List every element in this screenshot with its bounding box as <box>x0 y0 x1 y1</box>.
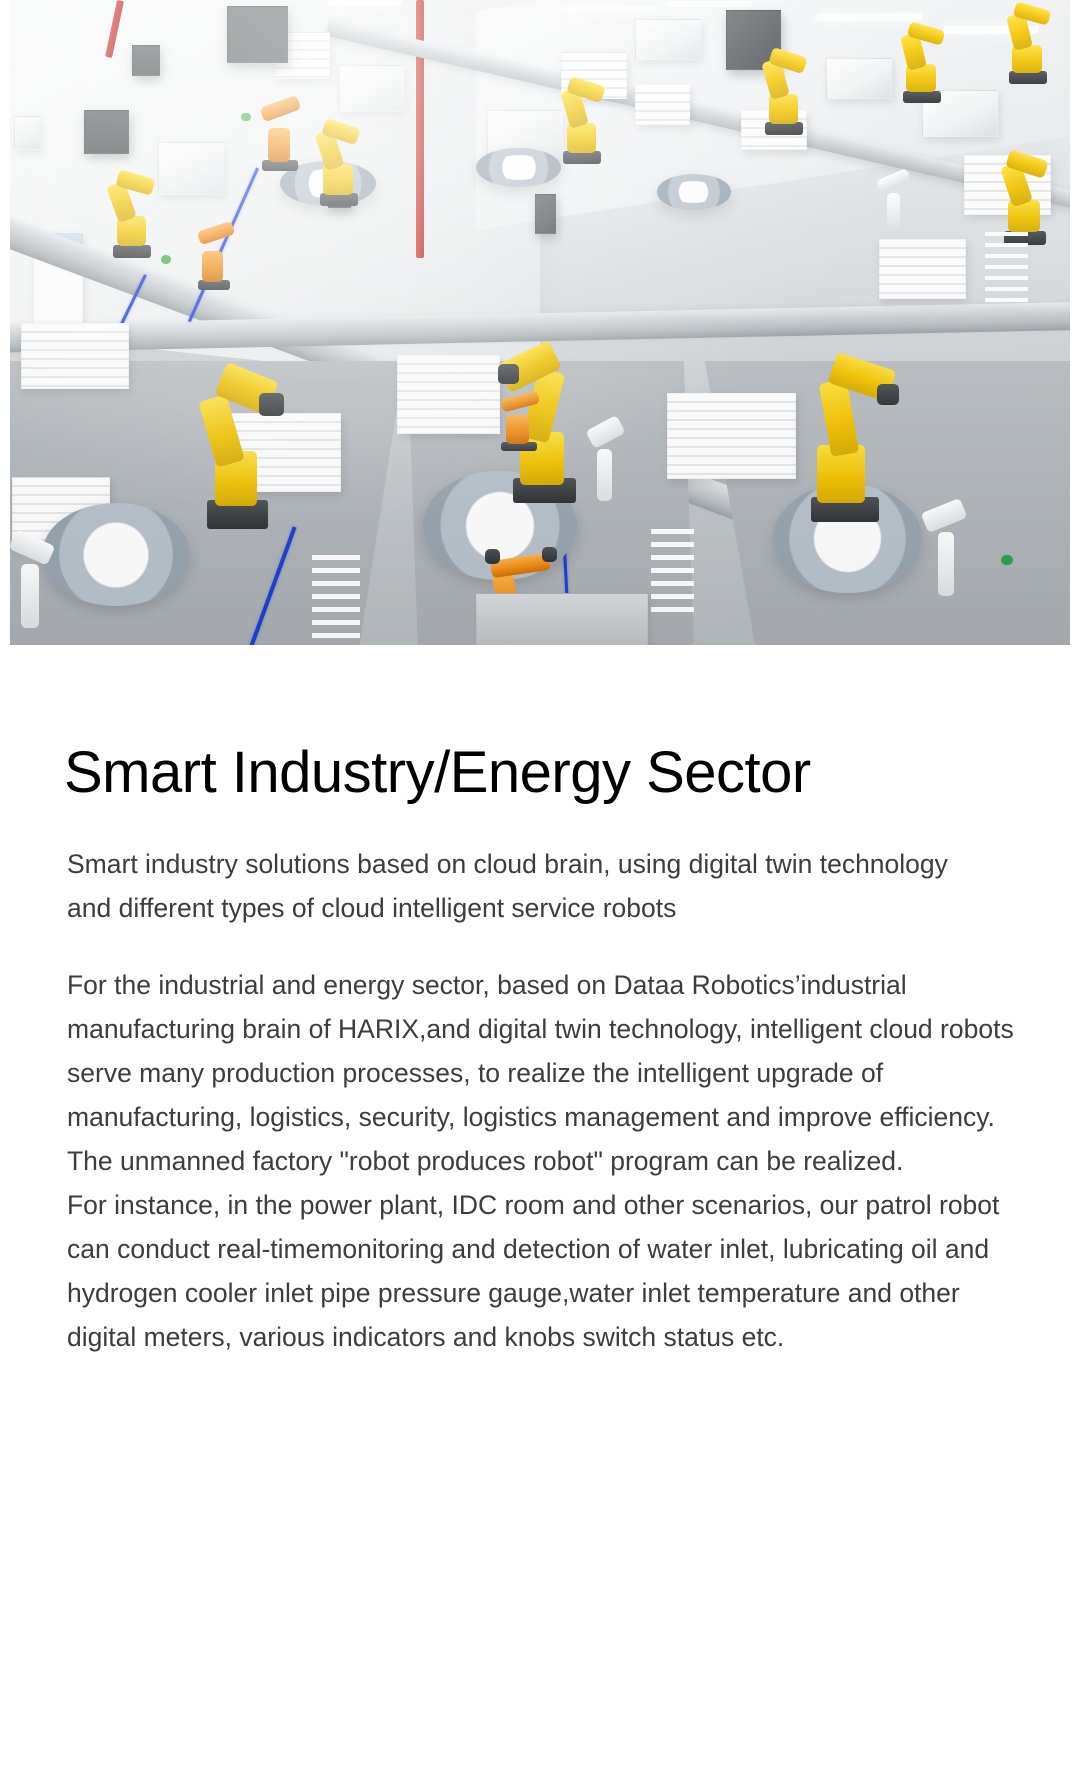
article-lede: Smart industry solutions based on cloud … <box>0 806 1080 930</box>
factory-scene-illustration <box>10 0 1070 645</box>
robot-arm <box>100 174 164 258</box>
robot-arm <box>551 81 615 165</box>
page-title: Smart Industry/Energy Sector <box>0 645 1080 806</box>
article-paragraph: The unmanned factory "robot produces rob… <box>67 1139 1025 1183</box>
gripper-indicator <box>1001 555 1013 565</box>
gripper-indicator <box>161 255 172 264</box>
robot-arm-orange <box>487 387 551 452</box>
ladder-frame <box>651 529 693 619</box>
machine-shelf <box>667 393 796 479</box>
robot-arm <box>996 6 1060 83</box>
dark-cabinet <box>227 6 287 63</box>
page-root: Smart Industry/Energy Sector Smart indus… <box>0 0 1080 1785</box>
turntable <box>657 174 731 209</box>
robot-arm <box>307 123 371 207</box>
cobot-arm-white <box>577 413 635 503</box>
machine-shelf <box>879 239 966 299</box>
hero-image <box>10 0 1070 645</box>
ceiling-light-strip <box>814 13 923 21</box>
ladder-frame <box>312 555 360 639</box>
wall-sign <box>14 116 39 150</box>
robot-arm <box>890 26 954 103</box>
robot-arm <box>190 368 285 529</box>
cobot-arm-white <box>10 529 63 632</box>
robot-arm <box>794 361 895 522</box>
dark-cabinet <box>132 45 161 76</box>
machine-cabinet <box>635 19 701 60</box>
article-paragraph: For instance, in the power plant, IDC ro… <box>67 1183 1025 1359</box>
cobot-arm-white <box>869 168 922 233</box>
machine-cabinet <box>158 142 224 196</box>
machine-shelf <box>635 84 690 125</box>
machine-cabinet <box>826 58 892 99</box>
machine-shelf <box>21 323 129 390</box>
machine-cabinet <box>339 65 405 112</box>
ceiling-light-strip <box>327 0 403 6</box>
dark-cabinet <box>535 194 556 235</box>
gripper-indicator <box>241 113 251 121</box>
robot-arm <box>752 52 816 136</box>
cobot-arm-white <box>916 497 980 600</box>
ceiling-light-strip <box>666 1 753 7</box>
dark-cabinet <box>84 110 128 154</box>
turntable <box>476 148 561 187</box>
ladder-frame <box>985 232 1027 303</box>
ceiling-light-strip <box>560 6 658 13</box>
article-paragraph: For the industrial and energy sector, ba… <box>67 963 1025 1139</box>
turntable <box>42 503 190 606</box>
article-content: Smart Industry/Energy Sector Smart indus… <box>0 645 1080 1359</box>
machine-shelf <box>397 355 500 434</box>
robot-arm-orange <box>185 219 243 290</box>
robot-arm-orange <box>249 94 313 171</box>
machine-panel <box>476 593 648 645</box>
article-body: For the industrial and energy sector, ba… <box>0 930 1080 1359</box>
